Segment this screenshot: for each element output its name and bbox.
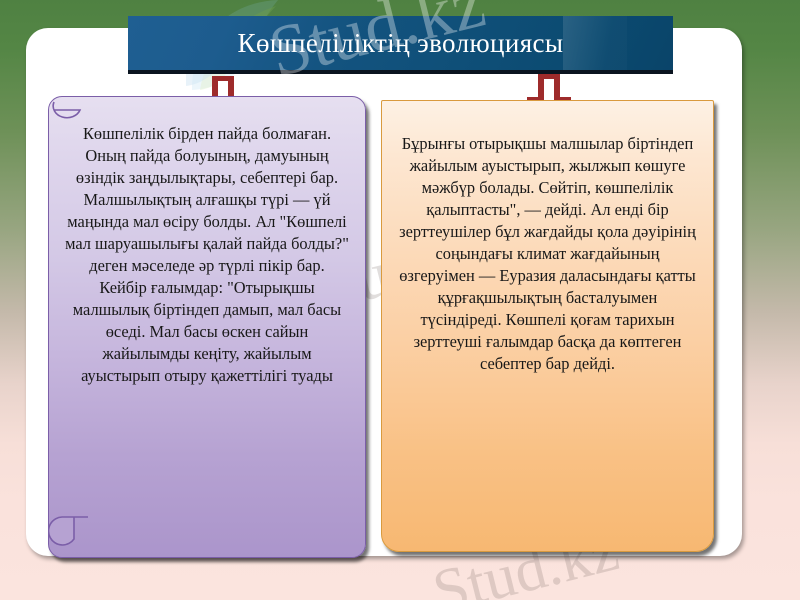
presentation-slide: Көшпеліліктің эволюциясы Stud.kz Stud.kz… — [0, 0, 800, 600]
left-content-box: Көшпелілік бірден пайда болмаған. Оның п… — [48, 96, 366, 558]
slide-title-bar: Көшпеліліктің эволюциясы — [128, 16, 673, 74]
page-title: Көшпеліліктің эволюциясы — [238, 28, 564, 59]
right-content-box: Бұрынғы отырықшы малшылар біртіндеп жайы… — [381, 100, 714, 552]
left-box-text: Көшпелілік бірден пайда болмаған. Оның п… — [65, 123, 349, 387]
right-box-text: Бұрынғы отырықшы малшылар біртіндеп жайы… — [396, 133, 699, 375]
